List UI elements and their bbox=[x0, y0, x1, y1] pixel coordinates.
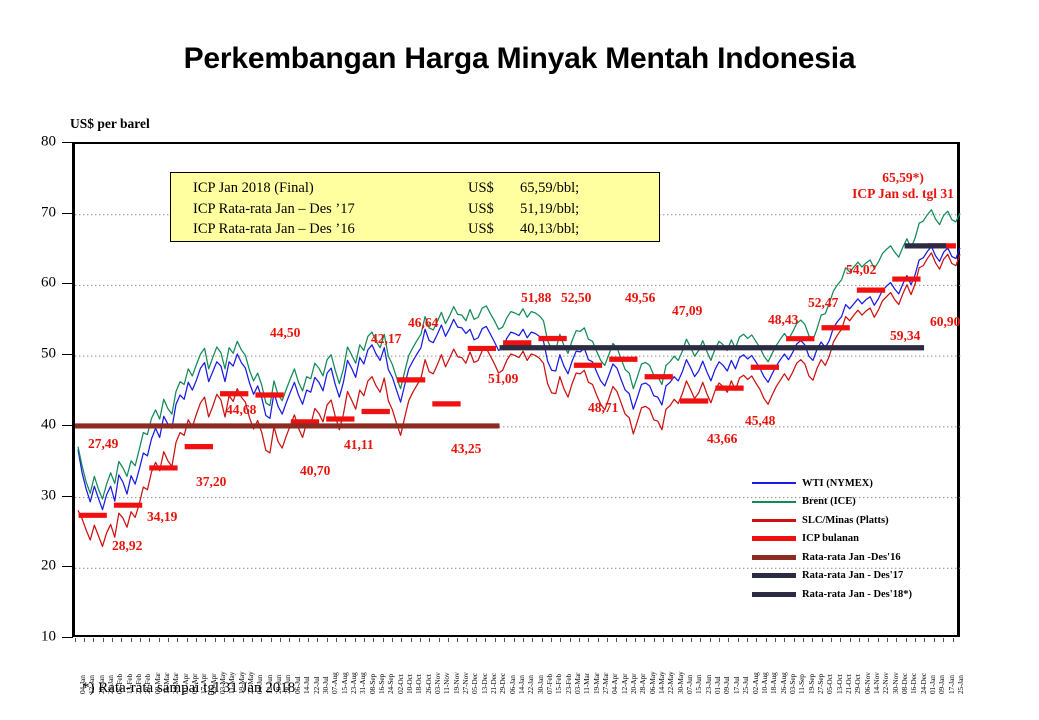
x-tick-mark bbox=[616, 638, 617, 642]
x-tick-label: 30-Nov bbox=[891, 672, 900, 694]
x-axis-labels: 04-Jan12-Jan20-Jan28-Jan05-Feb13-Feb21-F… bbox=[0, 0, 1039, 720]
summary-currency: US$ bbox=[468, 219, 520, 240]
x-tick-label: 05-Oct bbox=[825, 674, 834, 694]
x-tick-mark bbox=[700, 638, 701, 642]
summary-value: 51,19/bbl; bbox=[520, 199, 579, 220]
x-tick-mark bbox=[149, 638, 150, 642]
x-tick-mark bbox=[924, 638, 925, 642]
legend-item: ICP bulanan bbox=[752, 530, 967, 549]
x-tick-mark bbox=[495, 638, 496, 642]
x-tick-label: 20-Apr bbox=[629, 674, 638, 694]
x-tick-mark bbox=[953, 638, 954, 642]
legend-swatch bbox=[752, 482, 796, 484]
x-tick-label: 22-Jan bbox=[526, 675, 535, 694]
summary-row: ICP Rata-rata Jan – Des ’17US$51,19/bbl; bbox=[193, 199, 579, 220]
x-tick-label: 11-Nov bbox=[442, 673, 451, 694]
x-tick-mark bbox=[243, 638, 244, 642]
x-tick-label: 13-Dec bbox=[480, 673, 489, 694]
summary-row: ICP Jan 2018 (Final)US$65,59/bbl; bbox=[193, 178, 579, 199]
x-tick-label: 19-Nov bbox=[452, 672, 461, 694]
x-tick-label: 11-Mar bbox=[582, 673, 591, 694]
x-tick-label: 14-Jul bbox=[302, 676, 311, 694]
x-tick-label: 31-Aug bbox=[358, 672, 367, 694]
x-tick-mark bbox=[514, 638, 515, 642]
x-tick-mark bbox=[532, 638, 533, 642]
x-tick-label: 15-Aug bbox=[340, 672, 349, 694]
summary-currency: US$ bbox=[468, 199, 520, 220]
x-tick-mark bbox=[196, 638, 197, 642]
x-tick-label: 13-Oct bbox=[835, 674, 844, 694]
x-tick-mark bbox=[784, 638, 785, 642]
x-tick-label: 19-Sep bbox=[807, 674, 816, 694]
x-tick-mark bbox=[579, 638, 580, 642]
x-tick-mark bbox=[187, 638, 188, 642]
data-label: 28,92 bbox=[112, 538, 142, 554]
summary-table: ICP Jan 2018 (Final)US$65,59/bbl;ICP Rat… bbox=[193, 178, 579, 240]
data-label: 48,43 bbox=[768, 312, 798, 328]
x-tick-label: 22-May bbox=[666, 672, 675, 695]
data-label: 40,70 bbox=[300, 463, 330, 479]
x-tick-label: 17-Jul bbox=[732, 676, 741, 694]
x-tick-mark bbox=[691, 638, 692, 642]
x-tick-mark bbox=[915, 638, 916, 642]
legend-label: WTI (NYMEX) bbox=[802, 478, 873, 489]
x-tick-mark bbox=[682, 638, 683, 642]
x-tick-mark bbox=[672, 638, 673, 642]
x-tick-mark bbox=[607, 638, 608, 642]
x-tick-mark bbox=[280, 638, 281, 642]
x-tick-mark bbox=[401, 638, 402, 642]
x-tick-label: 12-Apr bbox=[620, 674, 629, 694]
legend-label: Brent (ICE) bbox=[802, 496, 856, 507]
x-tick-mark bbox=[859, 638, 860, 642]
data-label: 27,49 bbox=[88, 436, 118, 452]
x-tick-label: 14-Nov bbox=[872, 672, 881, 694]
x-tick-mark bbox=[215, 638, 216, 642]
x-tick-mark bbox=[420, 638, 421, 642]
x-tick-mark bbox=[588, 638, 589, 642]
x-tick-label: 11-Sep bbox=[797, 674, 806, 694]
summary-label: ICP Rata-rata Jan – Des ’17 bbox=[193, 199, 468, 220]
callout-caption: ICP Jan sd. tgl 31 bbox=[852, 186, 954, 202]
x-tick-label: 01-Jul bbox=[713, 676, 722, 694]
x-tick-mark bbox=[738, 638, 739, 642]
summary-row: ICP Rata-rata Jan – Des ’16US$40,13/bbl; bbox=[193, 219, 579, 240]
x-tick-label: 08-Sep bbox=[368, 674, 377, 694]
data-label: 43,66 bbox=[707, 431, 737, 447]
x-tick-label: 06-Nov bbox=[863, 672, 872, 694]
x-tick-mark bbox=[140, 638, 141, 642]
x-tick-label: 09-Jan bbox=[937, 675, 946, 694]
x-tick-mark bbox=[523, 638, 524, 642]
x-tick-label: 14-Jan bbox=[517, 675, 526, 694]
x-tick-mark bbox=[103, 638, 104, 642]
x-tick-label: 23-Feb bbox=[564, 674, 573, 694]
x-tick-label: 21-Oct bbox=[844, 674, 853, 694]
x-tick-label: 25-Jan bbox=[956, 675, 965, 694]
x-tick-label: 08-Dec bbox=[900, 673, 909, 694]
legend-item: Brent (ICE) bbox=[752, 493, 967, 512]
legend-label: Rata-rata Jan - Des'17 bbox=[802, 570, 903, 581]
legend-item: Rata-rata Jan -Des'16 bbox=[752, 548, 967, 567]
x-tick-mark bbox=[868, 638, 869, 642]
x-tick-label: 26-Aug bbox=[779, 672, 788, 694]
x-tick-label: 02-Aug bbox=[751, 672, 760, 694]
summary-currency: US$ bbox=[468, 178, 520, 199]
x-tick-mark bbox=[448, 638, 449, 642]
legend-swatch bbox=[752, 573, 796, 578]
x-tick-label: 09-Jul bbox=[722, 676, 731, 694]
x-tick-label: 28-Apr bbox=[638, 674, 647, 694]
summary-label: ICP Rata-rata Jan – Des ’16 bbox=[193, 219, 468, 240]
x-tick-label: 10-Oct bbox=[405, 674, 414, 694]
x-tick-mark bbox=[766, 638, 767, 642]
x-tick-mark bbox=[261, 638, 262, 642]
x-tick-label: 30-May bbox=[676, 672, 685, 695]
data-label: 47,09 bbox=[672, 303, 702, 319]
legend-swatch bbox=[752, 536, 796, 541]
footnote: *) Rata-rata sampai tgl 31 Jan 2018 bbox=[82, 680, 295, 697]
x-tick-label: 18-Oct bbox=[414, 674, 423, 694]
legend-item: WTI (NYMEX) bbox=[752, 474, 967, 493]
x-tick-label: 06-Jan bbox=[508, 675, 517, 694]
x-tick-mark bbox=[542, 638, 543, 642]
x-tick-mark bbox=[299, 638, 300, 642]
data-label: 43,25 bbox=[451, 441, 481, 457]
x-tick-label: 07-Jun bbox=[685, 675, 694, 694]
data-label: 59,34 bbox=[890, 328, 920, 344]
x-tick-label: 14-May bbox=[657, 672, 666, 695]
x-tick-mark bbox=[644, 638, 645, 642]
legend-swatch bbox=[752, 555, 796, 560]
x-tick-mark bbox=[551, 638, 552, 642]
x-tick-mark bbox=[635, 638, 636, 642]
x-tick-label: 04-Apr bbox=[610, 674, 619, 694]
x-tick-label: 21-Dec bbox=[489, 673, 498, 694]
x-tick-mark bbox=[131, 638, 132, 642]
legend-item: SLC/Minas (Platts) bbox=[752, 511, 967, 530]
x-tick-mark bbox=[233, 638, 234, 642]
x-tick-mark bbox=[205, 638, 206, 642]
x-tick-label: 27-Nov bbox=[461, 672, 470, 694]
data-label: 54,02 bbox=[846, 262, 876, 278]
data-label: 51,09 bbox=[488, 371, 518, 387]
x-tick-mark bbox=[747, 638, 748, 642]
x-tick-mark bbox=[756, 638, 757, 642]
data-label: 44,68 bbox=[226, 402, 256, 418]
data-label: 49,56 bbox=[625, 290, 655, 306]
x-tick-mark bbox=[84, 638, 85, 642]
data-label: 51,88 bbox=[521, 290, 551, 306]
x-tick-label: 01-Jan bbox=[928, 675, 937, 694]
x-tick-mark bbox=[392, 638, 393, 642]
x-tick-mark bbox=[411, 638, 412, 642]
x-tick-label: 03-Mar bbox=[573, 673, 582, 694]
data-label: 52,47 bbox=[808, 295, 838, 311]
data-label: 44,50 bbox=[270, 325, 300, 341]
x-tick-mark bbox=[878, 638, 879, 642]
x-tick-label: 23-Aug bbox=[349, 672, 358, 694]
x-tick-mark bbox=[719, 638, 720, 642]
x-tick-mark bbox=[289, 638, 290, 642]
legend-label: SLC/Minas (Platts) bbox=[802, 515, 889, 526]
x-tick-label: 18-Aug bbox=[769, 672, 778, 694]
x-tick-mark bbox=[345, 638, 346, 642]
x-tick-mark bbox=[75, 638, 76, 642]
x-tick-mark bbox=[271, 638, 272, 642]
x-tick-label: 27-Sep bbox=[816, 674, 825, 694]
x-tick-mark bbox=[943, 638, 944, 642]
x-tick-label: 07-Aug bbox=[330, 672, 339, 694]
legend-swatch bbox=[752, 519, 796, 522]
data-label: 46,64 bbox=[408, 315, 438, 331]
summary-info-box: ICP Jan 2018 (Final)US$65,59/bbl;ICP Rat… bbox=[170, 172, 660, 242]
x-tick-label: 17-Jan bbox=[947, 675, 956, 694]
x-tick-mark bbox=[121, 638, 122, 642]
x-tick-mark bbox=[560, 638, 561, 642]
x-tick-mark bbox=[626, 638, 627, 642]
x-tick-label: 22-Jul bbox=[312, 676, 321, 694]
data-label: 37,20 bbox=[196, 474, 226, 490]
x-tick-mark bbox=[840, 638, 841, 642]
x-tick-label: 06-May bbox=[648, 672, 657, 695]
x-tick-mark bbox=[654, 638, 655, 642]
x-tick-label: 03-Nov bbox=[433, 672, 442, 694]
x-tick-label: 24-Sep bbox=[386, 674, 395, 694]
x-tick-mark bbox=[485, 638, 486, 642]
data-label: 34,19 bbox=[147, 509, 177, 525]
x-tick-mark bbox=[831, 638, 832, 642]
x-tick-label: 02-Oct bbox=[396, 674, 405, 694]
x-tick-mark bbox=[775, 638, 776, 642]
x-tick-mark bbox=[850, 638, 851, 642]
x-tick-label: 22-Nov bbox=[881, 672, 890, 694]
x-tick-mark bbox=[93, 638, 94, 642]
x-tick-label: 10-Aug bbox=[760, 672, 769, 694]
latest-icp-callout: 65,59*) ICP Jan sd. tgl 31 bbox=[852, 170, 954, 202]
x-tick-mark bbox=[457, 638, 458, 642]
x-tick-mark bbox=[317, 638, 318, 642]
data-label: 41,11 bbox=[344, 437, 374, 453]
x-tick-mark bbox=[887, 638, 888, 642]
x-tick-label: 16-Dec bbox=[909, 673, 918, 694]
x-tick-mark bbox=[252, 638, 253, 642]
x-tick-label: 25-Jul bbox=[741, 676, 750, 694]
legend-label: ICP bulanan bbox=[802, 533, 859, 544]
x-tick-label: 30-Jul bbox=[321, 676, 330, 694]
x-tick-mark bbox=[794, 638, 795, 642]
x-tick-label: 23-Jun bbox=[704, 675, 713, 694]
x-tick-mark bbox=[570, 638, 571, 642]
x-tick-label: 05-Dec bbox=[470, 673, 479, 694]
x-tick-label: 03-Sep bbox=[788, 674, 797, 694]
x-tick-label: 07-Feb bbox=[545, 674, 554, 694]
x-tick-mark bbox=[728, 638, 729, 642]
x-tick-mark bbox=[822, 638, 823, 642]
x-tick-mark bbox=[710, 638, 711, 642]
x-tick-mark bbox=[429, 638, 430, 642]
x-tick-label: 15-Jun bbox=[694, 675, 703, 694]
summary-value: 65,59/bbl; bbox=[520, 178, 579, 199]
x-tick-mark bbox=[906, 638, 907, 642]
x-tick-mark bbox=[373, 638, 374, 642]
data-label: 48,71 bbox=[588, 400, 618, 416]
x-tick-mark bbox=[112, 638, 113, 642]
x-tick-label: 16-Sep bbox=[377, 674, 386, 694]
x-tick-label: 19-Mar bbox=[592, 673, 601, 694]
x-tick-mark bbox=[439, 638, 440, 642]
x-tick-mark bbox=[663, 638, 664, 642]
x-tick-label: 29-Dec bbox=[498, 673, 507, 694]
x-tick-mark bbox=[224, 638, 225, 642]
x-tick-mark bbox=[803, 638, 804, 642]
x-tick-label: 27-Mar bbox=[601, 673, 610, 694]
x-tick-label: 26-Oct bbox=[424, 674, 433, 694]
x-tick-mark bbox=[812, 638, 813, 642]
legend-swatch bbox=[752, 592, 796, 597]
x-tick-label: 30-Jan bbox=[536, 675, 545, 694]
x-tick-mark bbox=[355, 638, 356, 642]
data-label: 60,90 bbox=[930, 314, 960, 330]
summary-label: ICP Jan 2018 (Final) bbox=[193, 178, 468, 199]
x-tick-mark bbox=[383, 638, 384, 642]
x-tick-mark bbox=[934, 638, 935, 642]
chart-legend: WTI (NYMEX)Brent (ICE)SLC/Minas (Platts)… bbox=[752, 474, 967, 604]
data-label: 45,48 bbox=[745, 413, 775, 429]
x-tick-label: 29-Oct bbox=[853, 674, 862, 694]
x-tick-mark bbox=[896, 638, 897, 642]
x-tick-mark bbox=[476, 638, 477, 642]
legend-swatch bbox=[752, 501, 796, 503]
x-tick-mark bbox=[467, 638, 468, 642]
legend-item: Rata-rata Jan - Des'18*) bbox=[752, 585, 967, 604]
x-tick-mark bbox=[308, 638, 309, 642]
x-tick-mark bbox=[364, 638, 365, 642]
summary-value: 40,13/bbl; bbox=[520, 219, 579, 240]
legend-label: Rata-rata Jan -Des'16 bbox=[802, 552, 901, 563]
x-tick-label: 15-Feb bbox=[554, 674, 563, 694]
legend-item: Rata-rata Jan - Des'17 bbox=[752, 567, 967, 586]
x-tick-mark bbox=[504, 638, 505, 642]
callout-value: 65,59*) bbox=[852, 170, 954, 186]
x-tick-mark bbox=[177, 638, 178, 642]
data-label: 52,50 bbox=[561, 290, 591, 306]
x-tick-mark bbox=[168, 638, 169, 642]
x-tick-mark bbox=[159, 638, 160, 642]
legend-label: Rata-rata Jan - Des'18*) bbox=[802, 589, 912, 600]
x-tick-label: 24-Dec bbox=[919, 673, 928, 694]
data-label: 42,17 bbox=[371, 331, 401, 347]
x-tick-mark bbox=[327, 638, 328, 642]
x-tick-mark bbox=[336, 638, 337, 642]
x-tick-mark bbox=[598, 638, 599, 642]
